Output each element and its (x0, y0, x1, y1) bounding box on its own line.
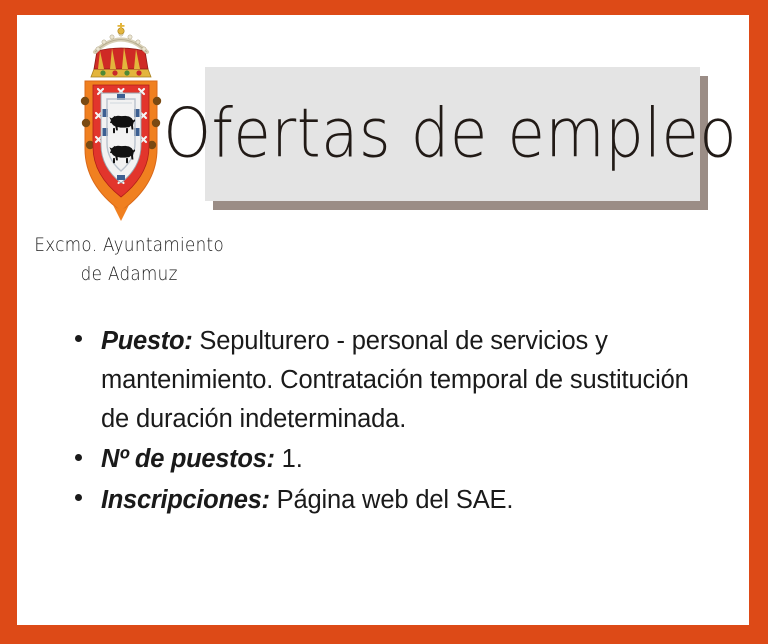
poster-header: Excmo. Ayuntamiento de Adamuz Ofertas de… (17, 15, 749, 305)
page-title: Ofertas de empleo (164, 100, 742, 168)
offer-value-inscripciones: Página web del SAE. (277, 486, 514, 514)
offer-value-numero-puestos: 1. (282, 445, 303, 473)
crown-group (91, 23, 151, 77)
shield-group (81, 81, 161, 221)
title-banner-plate: Ofertas de empleo (205, 67, 700, 201)
offer-label-numero-puestos: Nº de puestos: (101, 445, 275, 473)
offer-label-puesto: Puesto: (101, 327, 192, 355)
title-banner: Ofertas de empleo (205, 67, 700, 201)
crest-caption-line-2: de Adamuz (17, 260, 241, 289)
crest-caption-line-1: Excmo. Ayuntamiento (17, 231, 241, 260)
bullet-icon (75, 494, 82, 501)
crest-caption: Excmo. Ayuntamiento de Adamuz (17, 231, 241, 290)
job-offer-poster: Excmo. Ayuntamiento de Adamuz Ofertas de… (0, 0, 768, 644)
bullet-icon (75, 454, 82, 461)
bullet-icon (75, 335, 82, 342)
offer-details-list: Puesto: Sepulturero - personal de servic… (69, 322, 709, 522)
list-item: Inscripciones: Página web del SAE. (69, 481, 709, 520)
list-item: Puesto: Sepulturero - personal de servic… (69, 322, 709, 438)
list-item: Nº de puestos: 1. (69, 440, 709, 479)
coat-of-arms-icon (65, 23, 177, 223)
offer-label-inscripciones: Inscripciones: (101, 486, 270, 514)
